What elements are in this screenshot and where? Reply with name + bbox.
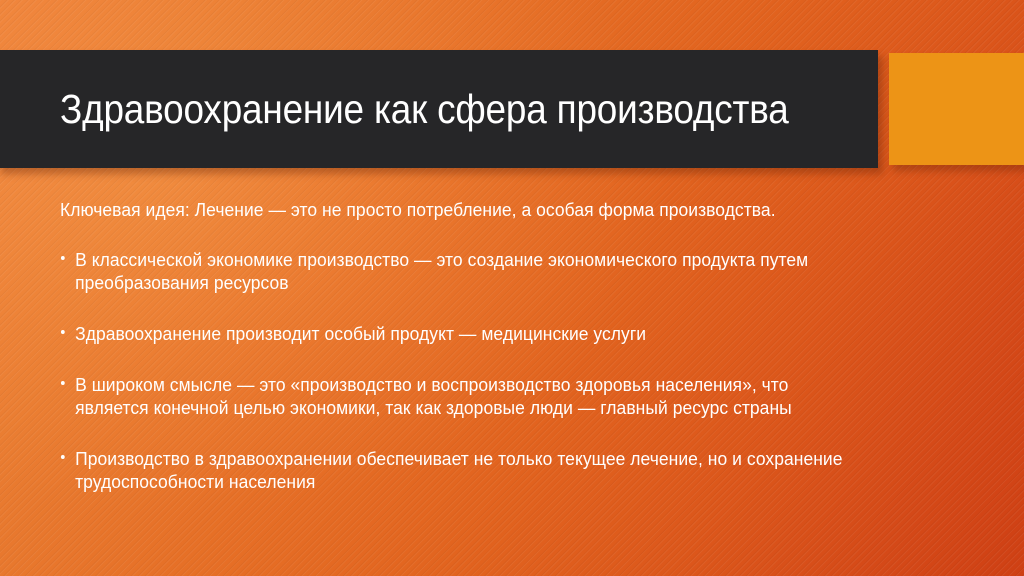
list-item-label: В классической экономике производство — … [75,248,844,294]
bullet-dot-icon [61,381,65,385]
lead-paragraph: Ключевая идея: Лечение — это не просто п… [60,198,835,222]
list-item: Производство в здравоохранении обеспечив… [60,447,844,493]
bullet-dot-icon [61,455,65,459]
list-item: В широком смысле — это «производство и в… [60,373,844,419]
list-item-label: Производство в здравоохранении обеспечив… [75,447,844,493]
list-item: Здравоохранение производит особый продук… [60,322,844,345]
list-item-label: Здравоохранение производит особый продук… [75,322,844,345]
bullet-dot-icon [61,330,65,334]
accent-block [889,53,1024,165]
page-title: Здравоохранение как сфера производства [60,89,789,130]
bullet-list: В классической экономике производство — … [60,248,890,521]
list-item: В классической экономике производство — … [60,248,844,294]
list-item-label: В широком смысле — это «производство и в… [75,373,844,419]
title-band: Здравоохранение как сфера производства [0,50,878,168]
presentation-slide: Здравоохранение как сфера производства К… [0,0,1024,576]
bullet-dot-icon [61,256,65,260]
slide-body: Ключевая идея: Лечение — это не просто п… [0,178,1024,576]
